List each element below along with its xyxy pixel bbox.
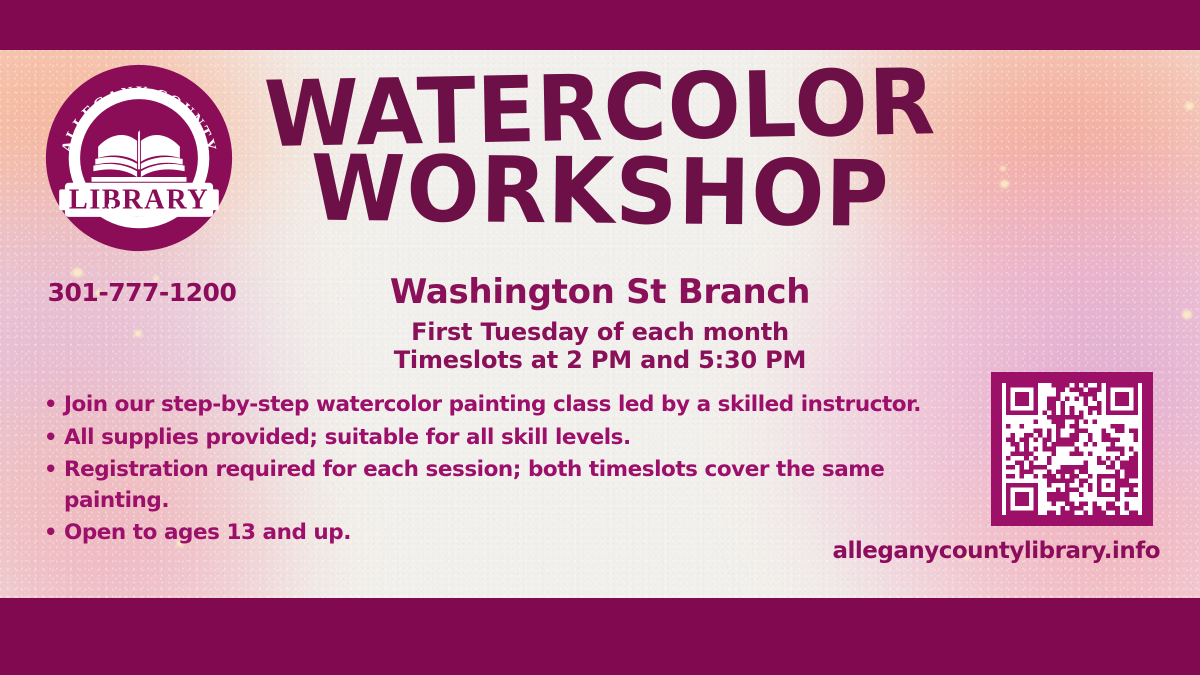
branch-name: Washington St Branch [250,272,950,312]
website-url[interactable]: alleganycountylibrary.info [760,538,1160,564]
list-item: • Join our step-by-step watercolor paint… [44,390,974,421]
qr-code-matrix [1002,383,1142,515]
header-bar [0,0,1200,50]
library-logo: LIBRARY ALLEGANY COUNTY SYSTEM [44,63,234,253]
bullet-icon: • [44,423,64,453]
title-line-workshop: WORKSHOP [250,147,951,238]
list-item-text: All supplies provided; suitable for all … [64,423,974,454]
schedule-frequency: First Tuesday of each month [250,318,950,346]
page-title: WATERCOLOR WORKSHOP [250,70,950,232]
bullet-icon: • [44,518,64,548]
footer-bar [0,598,1200,675]
list-item: • All supplies provided; suitable for al… [44,423,974,454]
bullet-icon: • [44,455,64,485]
list-item: • Registration required for each session… [44,455,974,516]
details-list: • Join our step-by-step watercolor paint… [44,390,974,551]
bullet-icon: • [44,390,64,420]
list-item-text: Registration required for each session; … [64,455,974,516]
list-item-text: Join our step-by-step watercolor paintin… [64,390,974,421]
phone-number: 301-777-1200 [44,278,240,307]
watercolor-workshop-flyer: LIBRARY ALLEGANY COUNTY SYSTEM 301-777-1… [0,0,1200,675]
schedule-timeslots: Timeslots at 2 PM and 5:30 PM [250,346,950,374]
qr-code[interactable] [991,372,1153,526]
schedule-block: First Tuesday of each month Timeslots at… [250,318,950,375]
